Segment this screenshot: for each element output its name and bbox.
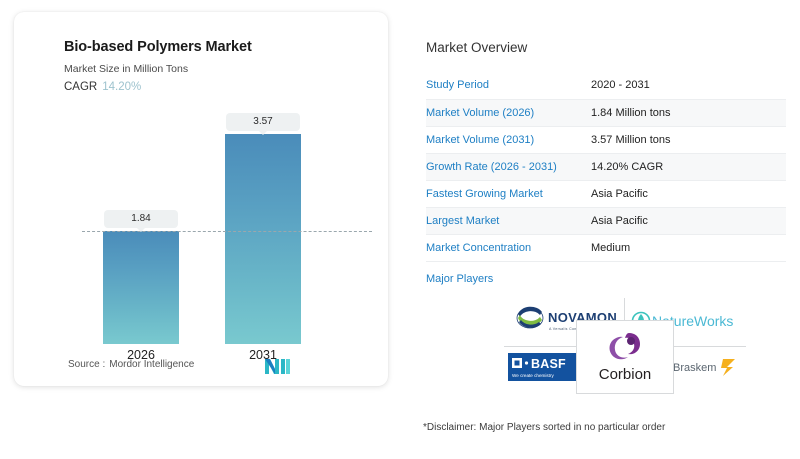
player-logo-basf: BASF We create chemistry (506, 350, 582, 384)
disclaimer-text: *Disclaimer: Major Players sorted in no … (423, 422, 665, 433)
player-logo-braskem: Braskem (672, 352, 746, 382)
braskem-logo: Braskem (673, 355, 745, 379)
overview-row: Study Period2020 - 2031 (426, 72, 786, 99)
overview-row-key: Study Period (426, 72, 591, 99)
svg-text:BASF: BASF (531, 357, 566, 371)
svg-text:Braskem: Braskem (673, 362, 716, 374)
overview-row-key: Growth Rate (2026 - 2031) (426, 153, 591, 180)
overview-row-value: Asia Pacific (591, 207, 786, 234)
player-logo-corbion-box: Corbion (576, 320, 674, 394)
svg-text:We create chemistry: We create chemistry (512, 373, 554, 378)
chart-subtitle: Market Size in Million Tons (64, 63, 188, 75)
source-line: Source :Mordor Intelligence (68, 359, 194, 370)
major-players-logo-grid: NOVAMONT A Versalis Company NatureWorks … (504, 298, 746, 394)
overview-row-value: 14.20% CAGR (591, 153, 786, 180)
overview-row-key: Market Concentration (426, 234, 591, 261)
source-name: Mordor Intelligence (109, 359, 194, 370)
overview-row-value: 1.84 Million tons (591, 99, 786, 126)
overview-table: Study Period2020 - 2031Market Volume (20… (426, 72, 786, 262)
grid-line-vertical-top (624, 298, 625, 320)
overview-row-key: Largest Market (426, 207, 591, 234)
chart-cagr: CAGR14.20% (64, 81, 141, 93)
overview-row-key: Market Volume (2031) (426, 126, 591, 153)
overview-row: Growth Rate (2026 - 2031)14.20% CAGR (426, 153, 786, 180)
chart-cagr-value: 14.20% (102, 81, 141, 93)
chart-title: Bio-based Polymers Market (64, 39, 252, 55)
major-players-label: Major Players (426, 273, 786, 285)
overview-row: Market ConcentrationMedium (426, 234, 786, 261)
chart-cagr-label: CAGR (64, 81, 97, 93)
market-overview-panel: Market Overview Study Period2020 - 2031M… (426, 40, 786, 285)
overview-title: Market Overview (426, 40, 786, 55)
overview-row-value: Medium (591, 234, 786, 261)
overview-row: Market Volume (2031)3.57 Million tons (426, 126, 786, 153)
overview-row-value: 3.57 Million tons (591, 126, 786, 153)
overview-row: Market Volume (2026)1.84 Million tons (426, 99, 786, 126)
svg-text:Corbion: Corbion (599, 366, 652, 383)
overview-row: Fastest Growing MarketAsia Pacific (426, 180, 786, 207)
mordor-intelligence-logo (264, 357, 292, 375)
source-label: Source : (68, 359, 105, 370)
corbion-logo: Corbion (577, 321, 673, 391)
overview-row: Largest MarketAsia Pacific (426, 207, 786, 234)
overview-row-key: Fastest Growing Market (426, 180, 591, 207)
overview-row-key: Market Volume (2026) (426, 99, 591, 126)
basf-logo: BASF We create chemistry (508, 353, 580, 381)
overview-row-value: Asia Pacific (591, 180, 786, 207)
overview-row-value: 2020 - 2031 (591, 72, 786, 99)
